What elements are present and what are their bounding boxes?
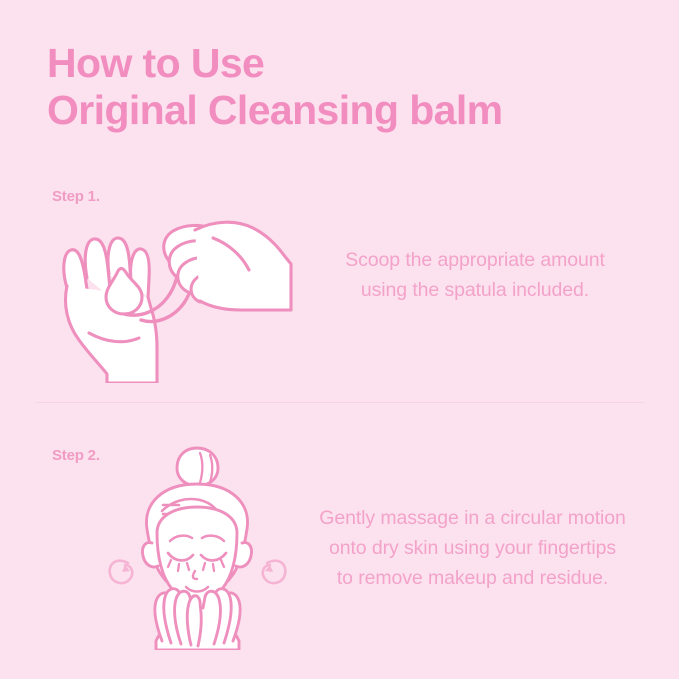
step-2-description-line-3: to remove makeup and residue. — [310, 563, 635, 593]
step-1-description-line-1: Scoop the appropriate amount — [330, 245, 620, 275]
step-2-label: Step 2. — [52, 447, 100, 464]
step-1-section: Step 1. — [0, 170, 679, 385]
step-2-description-line-2: onto dry skin using your fingertips — [310, 533, 635, 563]
section-divider — [36, 402, 644, 403]
step-1-description: Scoop the appropriate amount using the s… — [330, 245, 620, 305]
title-line-1: How to Use — [47, 40, 647, 87]
step-2-section: Step 2. — [0, 425, 679, 665]
step-2-description-line-1: Gently massage in a circular motion — [310, 503, 635, 533]
woman-massaging-face-icon — [100, 445, 295, 650]
how-to-use-infographic: How to Use Original Cleansing balm Step … — [0, 0, 679, 679]
page-title: How to Use Original Cleansing balm — [47, 40, 647, 134]
hands-scooping-balm-with-spatula-icon — [45, 198, 295, 383]
title-line-2: Original Cleansing balm — [47, 87, 647, 134]
step-2-description: Gently massage in a circular motion onto… — [310, 503, 635, 593]
step-1-description-line-2: using the spatula included. — [330, 275, 620, 305]
